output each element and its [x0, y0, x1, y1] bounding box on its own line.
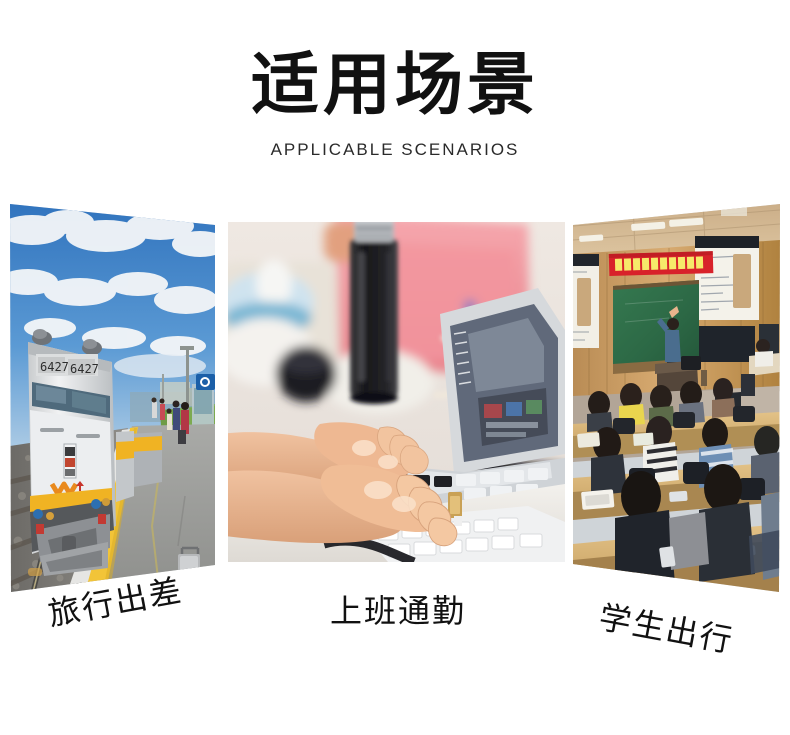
photo-lecture-hall [573, 196, 780, 596]
photo-train-station: 6427 6427 [10, 196, 215, 596]
scenario-panels: 6427 6427 [0, 0, 790, 735]
photo-laptop-typing [228, 222, 565, 562]
caption-student: 学生出行 [596, 592, 738, 662]
svg-text:6427: 6427 [40, 360, 69, 374]
svg-text:6427: 6427 [70, 362, 99, 376]
caption-commute: 上班通勤 [330, 586, 466, 632]
